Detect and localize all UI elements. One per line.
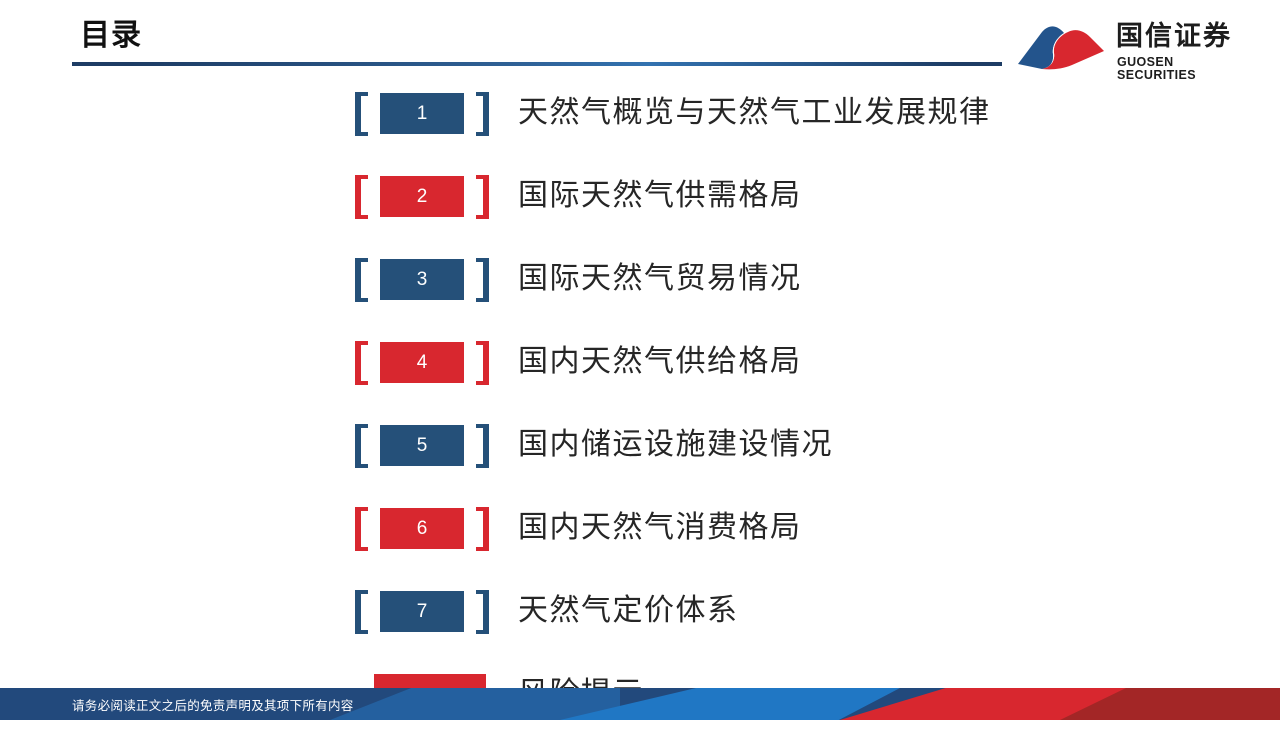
slide-footer: 请务必阅读正文之后的免责声明及其项下所有内容: [0, 688, 1280, 720]
toc-label[interactable]: 国内储运设施建设情况: [518, 421, 833, 469]
toc-item-7[interactable]: 7 天然气定价体系: [0, 582, 1280, 665]
toc-label[interactable]: 国内天然气消费格局: [518, 504, 802, 552]
toc-number-badge: 7: [380, 591, 464, 632]
title-underline-rule: [72, 62, 1002, 66]
page-title: 目录: [80, 21, 142, 51]
left-bracket-icon: [355, 341, 368, 385]
toc-number-badge: 3: [380, 259, 464, 300]
toc-label[interactable]: 国际天然气贸易情况: [518, 255, 802, 303]
left-bracket-icon: [355, 92, 368, 136]
toc-marker-4: 4: [355, 341, 489, 385]
toc-marker-3: 3: [355, 258, 489, 302]
right-bracket-icon: [476, 175, 489, 219]
right-bracket-icon: [476, 507, 489, 551]
left-bracket-icon: [355, 590, 368, 634]
toc-label[interactable]: 国内天然气供给格局: [518, 338, 802, 386]
toc-number-badge: 5: [380, 425, 464, 466]
toc-item-4[interactable]: 4 国内天然气供给格局: [0, 333, 1280, 416]
table-of-contents: 1 天然气概览与天然气工业发展规律 2 国际天然气供需格局 3: [0, 84, 1280, 748]
toc-label[interactable]: 天然气定价体系: [518, 587, 739, 635]
right-bracket-icon: [476, 258, 489, 302]
toc-number-badge: 6: [380, 508, 464, 549]
toc-number-badge: 4: [380, 342, 464, 383]
slide-header: 目录 国信证券 GUOSEN SECURITIES: [0, 0, 1280, 80]
toc-marker-1: 1: [355, 92, 489, 136]
toc-item-2[interactable]: 2 国际天然气供需格局: [0, 167, 1280, 250]
left-bracket-icon: [355, 424, 368, 468]
toc-item-6[interactable]: 6 国内天然气消费格局: [0, 499, 1280, 582]
toc-label[interactable]: 天然气概览与天然气工业发展规律: [518, 89, 991, 137]
company-logo: 国信证券 GUOSEN SECURITIES: [1012, 16, 1244, 74]
toc-marker-7: 7: [355, 590, 489, 634]
toc-number-badge: 2: [380, 176, 464, 217]
right-bracket-icon: [476, 92, 489, 136]
toc-item-1[interactable]: 1 天然气概览与天然气工业发展规律: [0, 84, 1280, 167]
toc-marker-6: 6: [355, 507, 489, 551]
logo-name-cn: 国信证券: [1116, 22, 1232, 52]
toc-item-3[interactable]: 3 国际天然气贸易情况: [0, 250, 1280, 333]
left-bracket-icon: [355, 507, 368, 551]
right-bracket-icon: [476, 424, 489, 468]
logo-name-en: GUOSEN SECURITIES: [1117, 56, 1244, 81]
footer-disclaimer: 请务必阅读正文之后的免责声明及其项下所有内容: [72, 688, 354, 720]
left-bracket-icon: [355, 258, 368, 302]
toc-marker-2: 2: [355, 175, 489, 219]
guosen-logo-mark: [1012, 20, 1108, 72]
toc-marker-5: 5: [355, 424, 489, 468]
left-bracket-icon: [355, 175, 368, 219]
toc-label[interactable]: 国际天然气供需格局: [518, 172, 802, 220]
right-bracket-icon: [476, 341, 489, 385]
toc-number-badge: 1: [380, 93, 464, 134]
right-bracket-icon: [476, 590, 489, 634]
toc-item-5[interactable]: 5 国内储运设施建设情况: [0, 416, 1280, 499]
